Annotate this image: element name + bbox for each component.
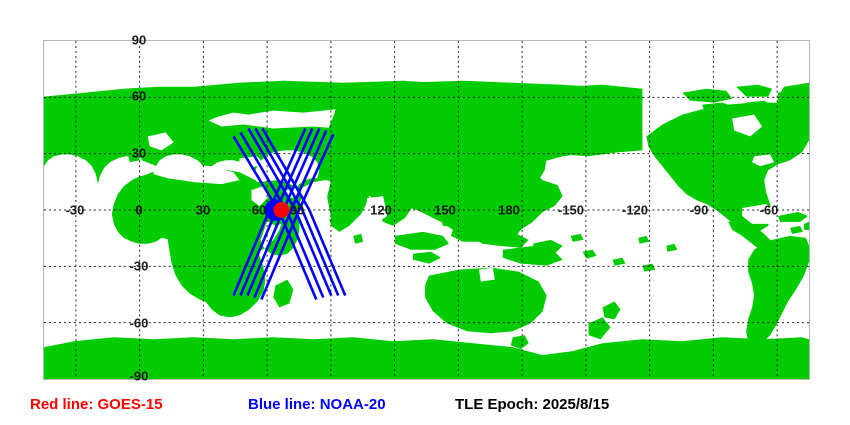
legend-red-label: Red line: xyxy=(30,396,93,413)
satellite-ground-track-map: -30 0 30 60 90 120 150 180 -150 -120 -90… xyxy=(0,0,850,425)
legend-blue-value: NOAA-20 xyxy=(320,396,386,413)
gulf-of-carpentaria xyxy=(479,268,495,282)
legend-blue-label: Blue line: xyxy=(248,396,316,413)
antarctica-landmass xyxy=(44,337,809,379)
lat-tick--90: -90 xyxy=(130,370,149,383)
lat-tick--60: -60 xyxy=(130,317,149,330)
tasmania-landmass xyxy=(511,335,529,349)
lat-tick-30: 30 xyxy=(132,147,146,160)
lon-tick--90: -90 xyxy=(690,204,709,217)
lon-tick--60: -60 xyxy=(760,204,779,217)
india-landmass xyxy=(327,178,369,232)
lat-tick-60: 60 xyxy=(132,90,146,103)
goes15-marker-overlay xyxy=(273,202,289,218)
legend-blue-line: Blue line: NOAA-20 xyxy=(248,397,386,412)
caribbean-islands xyxy=(778,212,809,234)
lon-tick-30: 30 xyxy=(196,204,210,217)
lon-tick--30: -30 xyxy=(66,204,85,217)
lon-tick-150: 150 xyxy=(434,204,456,217)
lon-tick-180: 180 xyxy=(498,204,520,217)
madagascar-landmass xyxy=(273,280,293,308)
legend-epoch-label: TLE Epoch: xyxy=(455,396,538,413)
legend-tle-epoch: TLE Epoch: 2025/8/15 xyxy=(455,397,609,412)
legend-red-line: Red line: GOES-15 xyxy=(30,397,163,412)
landmass-layer xyxy=(44,81,809,379)
lon-tick-60: 60 xyxy=(252,204,266,217)
legend-bar: Red line: GOES-15 Blue line: NOAA-20 TLE… xyxy=(0,392,850,420)
sri-lanka-landmass xyxy=(353,234,363,244)
lon-tick--150: -150 xyxy=(558,204,584,217)
lat-tick-90: 90 xyxy=(132,34,146,47)
lon-tick-90: 90 xyxy=(290,204,304,217)
legend-red-value: GOES-15 xyxy=(98,396,163,413)
lon-tick-120: 120 xyxy=(370,204,392,217)
lon-tick--120: -120 xyxy=(622,204,648,217)
new-zealand-landmass xyxy=(589,301,621,339)
lat-tick-0: 0 xyxy=(135,204,142,217)
lat-tick--30: -30 xyxy=(130,260,149,273)
legend-epoch-value: 2025/8/15 xyxy=(543,396,610,413)
